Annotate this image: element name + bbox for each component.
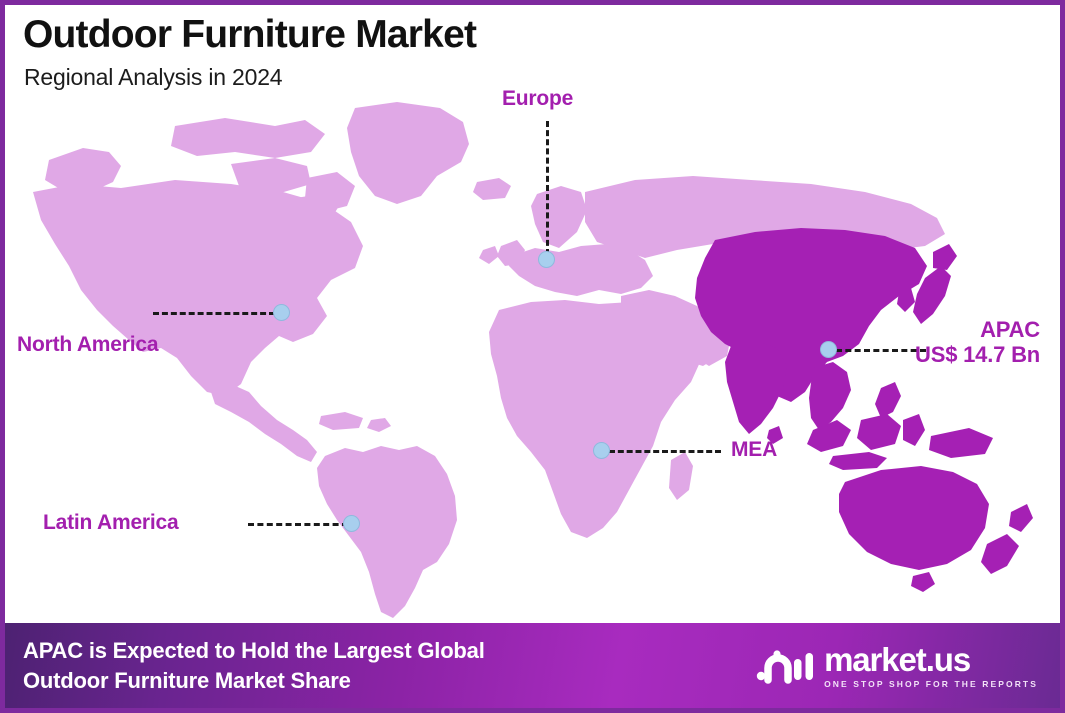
region-label-europe[interactable]: Europe <box>502 87 573 111</box>
madagascar-shape <box>669 452 693 500</box>
map-marker-north-america[interactable] <box>273 304 290 321</box>
region-label-north-america[interactable]: North America <box>17 333 158 357</box>
leader-line-mea <box>609 450 721 453</box>
central-america-shape <box>211 384 317 462</box>
header: Outdoor Furniture Market Regional Analys… <box>23 15 476 91</box>
java-shape <box>829 452 887 470</box>
page-subtitle: Regional Analysis in 2024 <box>24 64 476 91</box>
leader-line-north-america <box>153 312 275 315</box>
new-zealand-north-shape <box>1009 504 1033 532</box>
sumatra-shape <box>807 420 851 452</box>
borneo-shape <box>857 414 901 450</box>
scandinavia-shape <box>531 186 587 248</box>
world-map-svg <box>25 100 1055 620</box>
world-map: Europe North America Latin America MEA A… <box>5 5 1065 645</box>
tasmania-shape <box>911 572 935 592</box>
region-label-apac-value: US$ 14.7 Bn <box>915 342 1040 367</box>
region-label-apac-name: APAC <box>980 317 1040 342</box>
india-shape <box>725 340 787 434</box>
arctic-islands-shape <box>171 118 325 158</box>
new-guinea-shape <box>929 428 993 458</box>
map-marker-europe[interactable] <box>538 251 555 268</box>
sulawesi-shape <box>903 414 925 446</box>
north-america-mainland-shape <box>33 180 363 396</box>
logo-wordmark: market.us <box>824 643 970 676</box>
caribbean-b-shape <box>367 418 391 432</box>
logo-text-block: market.us ONE STOP SHOP FOR THE REPORTS <box>824 643 1038 689</box>
africa-shape <box>489 300 701 538</box>
bottom-banner: APAC is Expected to Hold the Largest Glo… <box>5 623 1060 708</box>
australia-shape <box>839 466 989 570</box>
region-label-mea[interactable]: MEA <box>731 438 777 462</box>
apac-highlight-landmasses <box>695 228 1033 592</box>
leader-line-latin-america <box>248 523 348 526</box>
japan-north-shape <box>933 244 957 270</box>
infographic-root: Outdoor Furniture Market Regional Analys… <box>0 0 1065 713</box>
southeast-asia-shape <box>809 362 851 430</box>
brand-logo[interactable]: market.us ONE STOP SHOP FOR THE REPORTS <box>756 643 1038 689</box>
leader-line-apac <box>836 349 926 352</box>
page-title: Outdoor Furniture Market <box>23 15 476 56</box>
map-marker-mea[interactable] <box>593 442 610 459</box>
logo-tagline: ONE STOP SHOP FOR THE REPORTS <box>824 679 1038 689</box>
philippines-shape <box>875 382 901 418</box>
greenland-shape <box>347 102 469 204</box>
market-us-logo-mark-icon <box>756 645 814 687</box>
banner-headline-line2: Outdoor Furniture Market Share <box>23 666 485 695</box>
region-label-apac[interactable]: APAC US$ 14.7 Bn <box>915 317 1040 368</box>
ireland-shape <box>479 246 499 264</box>
south-america-shape <box>317 446 457 618</box>
map-marker-latin-america[interactable] <box>343 515 360 532</box>
new-zealand-south-shape <box>981 534 1019 574</box>
banner-headline-line1: APAC is Expected to Hold the Largest Glo… <box>23 636 485 665</box>
banner-headline: APAC is Expected to Hold the Largest Glo… <box>23 636 485 695</box>
caribbean-shape <box>319 412 363 430</box>
iceland-shape <box>473 178 511 200</box>
leader-line-europe <box>546 121 549 255</box>
map-marker-apac[interactable] <box>820 341 837 358</box>
region-label-latin-america[interactable]: Latin America <box>43 511 179 535</box>
